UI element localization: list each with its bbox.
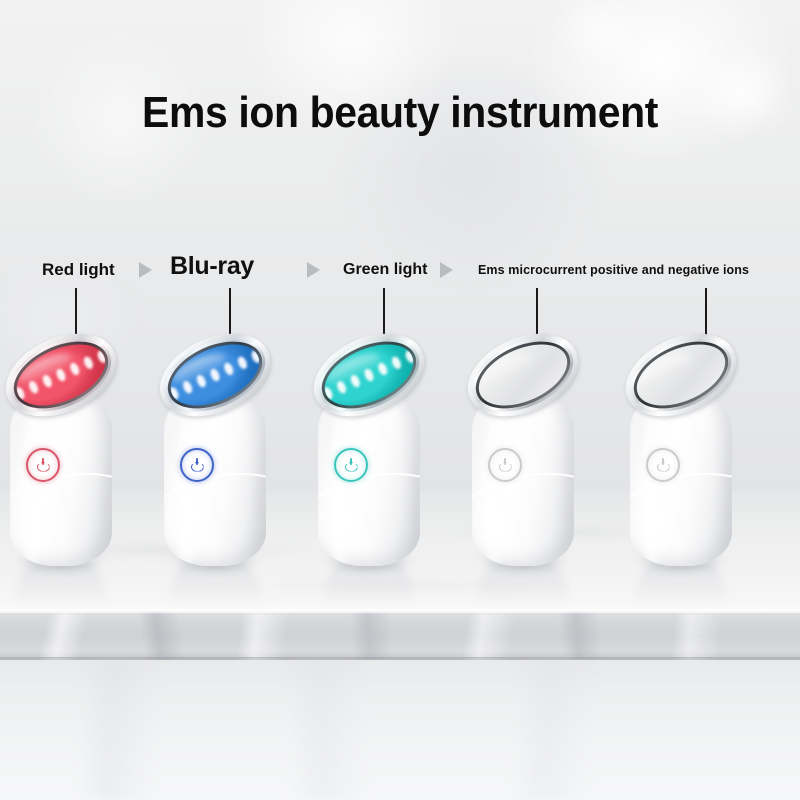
power-button[interactable] [488, 448, 522, 482]
page-title: Ems ion beauty instrument [28, 88, 772, 138]
power-icon [345, 459, 358, 472]
device-ems-left [464, 334, 582, 566]
label-row: Red light Blu-ray Green light Ems microc… [0, 258, 800, 282]
power-button[interactable] [180, 448, 214, 482]
device-red-light [2, 334, 120, 566]
power-icon [191, 459, 204, 472]
label-red-light: Red light [42, 258, 115, 282]
power-button[interactable] [646, 448, 680, 482]
arrow-green-to-ems-icon [440, 262, 453, 278]
counter-under-veining [0, 660, 800, 800]
power-icon [37, 459, 50, 472]
power-button[interactable] [26, 448, 60, 482]
device-green-light [310, 334, 428, 566]
marble-edge-veining [0, 613, 800, 661]
label-green-light: Green light [343, 258, 427, 282]
power-button[interactable] [334, 448, 368, 482]
arrow-red-to-blu-icon [139, 262, 152, 278]
power-icon [657, 459, 670, 472]
product-marketing-image: Ems ion beauty instrument Red light Blu-… [0, 0, 800, 800]
marble-counter-edge [0, 613, 800, 661]
label-blu-ray: Blu-ray [170, 254, 254, 278]
arrow-blu-to-green-icon [307, 262, 320, 278]
counter-under-area [0, 660, 800, 800]
label-ems-microcurrent: Ems microcurrent positive and negative i… [478, 258, 749, 282]
device-ems-right [622, 334, 740, 566]
power-icon [499, 459, 512, 472]
device-blue-light [156, 334, 274, 566]
